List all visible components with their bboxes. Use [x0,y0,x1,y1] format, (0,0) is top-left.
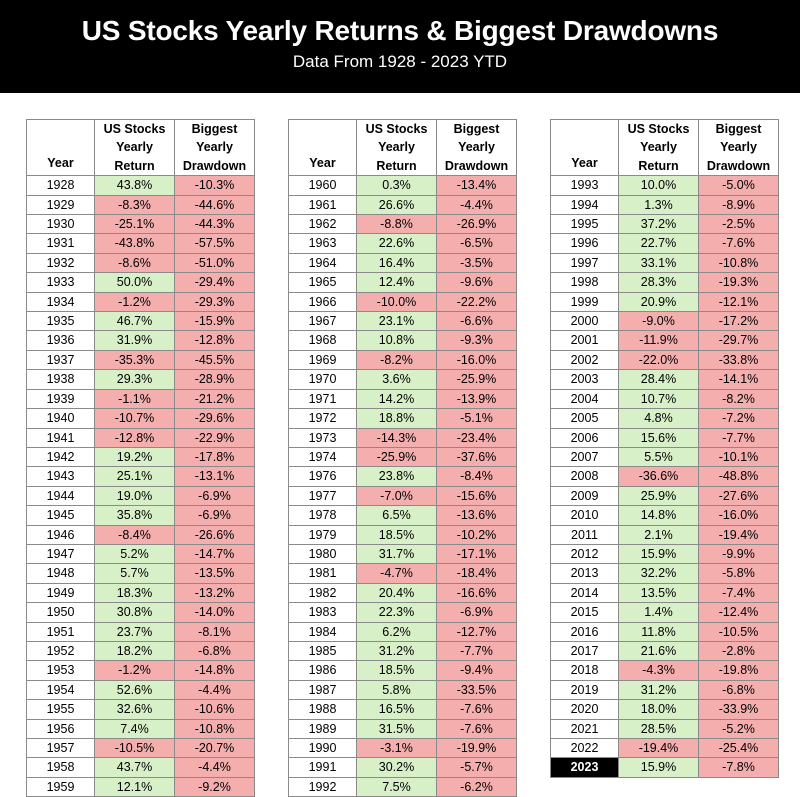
yearly-return-cell: -1.1% [95,389,175,408]
table-row: 199310.0%-5.0% [551,176,779,195]
year-cell: 2013 [551,564,619,583]
biggest-drawdown-cell: -2.5% [699,215,779,234]
table-row: 193546.7%-15.9% [27,312,255,331]
yearly-return-cell: 32.6% [95,700,175,719]
column-header-year: Year [551,120,619,176]
year-cell: 1931 [27,234,95,253]
biggest-drawdown-cell: -12.4% [699,603,779,622]
table-row: 198220.4%-16.6% [289,583,517,602]
yearly-return-cell: -7.0% [357,486,437,505]
table-row: 1977-7.0%-15.6% [289,486,517,505]
yearly-return-cell: 43.8% [95,176,175,195]
table-row: 1937-35.3%-45.5% [27,350,255,369]
biggest-drawdown-cell: -33.9% [699,700,779,719]
yearly-return-cell: 23.1% [357,312,437,331]
biggest-drawdown-cell: -6.2% [437,777,517,796]
yearly-return-cell: 13.5% [619,583,699,602]
yearly-return-cell: 15.6% [619,428,699,447]
yearly-return-cell: 22.3% [357,603,437,622]
biggest-drawdown-cell: -6.6% [437,312,517,331]
page-subtitle: Data From 1928 - 2023 YTD [0,51,800,73]
yearly-return-cell: 29.3% [95,370,175,389]
year-cell: 1970 [289,370,357,389]
column-header-year: Year [289,120,357,176]
returns-table: YearUS StocksYearlyReturnBiggestYearlyDr… [288,119,517,797]
year-cell: 2004 [551,389,619,408]
biggest-drawdown-cell: -10.8% [699,253,779,272]
biggest-drawdown-cell: -15.9% [175,312,255,331]
yearly-return-cell: 7.4% [95,719,175,738]
biggest-drawdown-cell: -6.8% [699,680,779,699]
biggest-drawdown-cell: -18.4% [437,564,517,583]
table-row: 20151.4%-12.4% [551,603,779,622]
table-row: 1929-8.3%-44.6% [27,195,255,214]
yearly-return-cell: -36.6% [619,467,699,486]
yearly-return-cell: 18.0% [619,700,699,719]
table-panel: YearUS StocksYearlyReturnBiggestYearlyDr… [550,119,778,797]
table-row: 1981-4.7%-18.4% [289,564,517,583]
year-cell: 1996 [551,234,619,253]
table-row: 192843.8%-10.3% [27,176,255,195]
yearly-return-cell: 18.5% [357,661,437,680]
biggest-drawdown-cell: -7.2% [699,409,779,428]
biggest-drawdown-cell: -44.6% [175,195,255,214]
table-row: 2002-22.0%-33.8% [551,350,779,369]
biggest-drawdown-cell: -57.5% [175,234,255,253]
yearly-return-cell: 25.1% [95,467,175,486]
year-cell: 1995 [551,215,619,234]
year-cell: 1967 [289,312,357,331]
year-cell: 1953 [27,661,95,680]
yearly-return-cell: 25.9% [619,486,699,505]
year-cell: 1966 [289,292,357,311]
year-cell: 1951 [27,622,95,641]
biggest-drawdown-cell: -3.5% [437,253,517,272]
year-cell: 1957 [27,739,95,758]
table-row: 1941-12.8%-22.9% [27,428,255,447]
year-cell: 2002 [551,350,619,369]
year-cell: 1947 [27,544,95,563]
biggest-drawdown-cell: -9.3% [437,331,517,350]
year-cell: 1983 [289,603,357,622]
yearly-return-cell: -11.9% [619,331,699,350]
title-banner: US Stocks Yearly Returns & Biggest Drawd… [0,0,800,93]
yearly-return-cell: -4.7% [357,564,437,583]
year-cell: 2003 [551,370,619,389]
returns-table: YearUS StocksYearlyReturnBiggestYearlyDr… [550,119,779,778]
year-cell: 1962 [289,215,357,234]
year-cell: 1985 [289,641,357,660]
table-row: 198931.5%-7.6% [289,719,517,738]
column-header-biggest-drawdown: BiggestYearlyDrawdown [175,120,255,176]
biggest-drawdown-cell: -6.9% [437,603,517,622]
yearly-return-cell: 28.5% [619,719,699,738]
table-row: 20054.8%-7.2% [551,409,779,428]
biggest-drawdown-cell: -7.6% [437,719,517,738]
year-cell: 1932 [27,253,95,272]
table-row: 194535.8%-6.9% [27,506,255,525]
biggest-drawdown-cell: -7.4% [699,583,779,602]
year-cell: 2010 [551,506,619,525]
table-row: 201215.9%-9.9% [551,544,779,563]
table-row: 200925.9%-27.6% [551,486,779,505]
yearly-return-cell: 10.7% [619,389,699,408]
yearly-return-cell: 28.4% [619,370,699,389]
year-cell: 1982 [289,583,357,602]
table-row: 2001-11.9%-29.7% [551,331,779,350]
table-row: 2000-9.0%-17.2% [551,312,779,331]
year-cell: 1961 [289,195,357,214]
yearly-return-cell: -1.2% [95,292,175,311]
year-cell: 1973 [289,428,357,447]
biggest-drawdown-cell: -33.8% [699,350,779,369]
year-cell: 1980 [289,544,357,563]
biggest-drawdown-cell: -15.6% [437,486,517,505]
yearly-return-cell: 18.3% [95,583,175,602]
biggest-drawdown-cell: -10.5% [699,622,779,641]
yearly-return-cell: 21.6% [619,641,699,660]
biggest-drawdown-cell: -8.2% [699,389,779,408]
yearly-return-cell: 31.2% [357,641,437,660]
year-cell: 1976 [289,467,357,486]
biggest-drawdown-cell: -8.4% [437,467,517,486]
year-cell: 1994 [551,195,619,214]
table-row: 197623.8%-8.4% [289,467,517,486]
yearly-return-cell: 19.2% [95,447,175,466]
year-cell: 1981 [289,564,357,583]
year-cell: 1977 [289,486,357,505]
year-cell: 1933 [27,273,95,292]
yearly-return-cell: 16.4% [357,253,437,272]
biggest-drawdown-cell: -17.1% [437,544,517,563]
year-cell: 2001 [551,331,619,350]
table-row: 193631.9%-12.8% [27,331,255,350]
year-cell: 1988 [289,700,357,719]
table-row: 1931-43.8%-57.5% [27,234,255,253]
yearly-return-cell: 28.3% [619,273,699,292]
biggest-drawdown-cell: -48.8% [699,467,779,486]
table-row: 201413.5%-7.4% [551,583,779,602]
biggest-drawdown-cell: -29.6% [175,409,255,428]
yearly-return-cell: 35.8% [95,506,175,525]
table-row: 200410.7%-8.2% [551,389,779,408]
table-row: 195912.1%-9.2% [27,777,255,796]
yearly-return-cell: 5.5% [619,447,699,466]
table-row: 20112.1%-19.4% [551,525,779,544]
table-row: 1966-10.0%-22.2% [289,292,517,311]
year-cell: 1963 [289,234,357,253]
yearly-return-cell: 11.8% [619,622,699,641]
year-cell: 1935 [27,312,95,331]
yearly-return-cell: -1.2% [95,661,175,680]
table-panel: YearUS StocksYearlyReturnBiggestYearlyDr… [26,119,254,797]
yearly-return-cell: 5.7% [95,564,175,583]
year-cell: 1964 [289,253,357,272]
year-cell: 1945 [27,506,95,525]
biggest-drawdown-cell: -5.8% [699,564,779,583]
column-header-yearly-return: US StocksYearlyReturn [619,120,699,176]
table-row: 1962-8.8%-26.9% [289,215,517,234]
biggest-drawdown-cell: -14.8% [175,661,255,680]
year-cell: 1965 [289,273,357,292]
yearly-return-cell: -10.0% [357,292,437,311]
year-cell: 1955 [27,700,95,719]
biggest-drawdown-cell: -13.4% [437,176,517,195]
year-cell: 1992 [289,777,357,796]
year-cell: 1940 [27,409,95,428]
yearly-return-cell: -35.3% [95,350,175,369]
table-row: 195452.6%-4.4% [27,680,255,699]
year-cell: 1944 [27,486,95,505]
table-row: 19875.8%-33.5% [289,680,517,699]
biggest-drawdown-cell: -8.9% [699,195,779,214]
column-header-yearly-return: US StocksYearlyReturn [95,120,175,176]
table-row: 196416.4%-3.5% [289,253,517,272]
biggest-drawdown-cell: -25.9% [437,370,517,389]
biggest-drawdown-cell: -2.8% [699,641,779,660]
table-row: 198816.5%-7.6% [289,700,517,719]
table-row: 19927.5%-6.2% [289,777,517,796]
biggest-drawdown-cell: -10.2% [437,525,517,544]
biggest-drawdown-cell: -22.9% [175,428,255,447]
year-cell: 1979 [289,525,357,544]
table-row: 198618.5%-9.4% [289,661,517,680]
biggest-drawdown-cell: -27.6% [699,486,779,505]
year-cell: 2012 [551,544,619,563]
table-row: 202128.5%-5.2% [551,719,779,738]
yearly-return-cell: 18.2% [95,641,175,660]
biggest-drawdown-cell: -9.6% [437,273,517,292]
yearly-return-cell: 10.0% [619,176,699,195]
biggest-drawdown-cell: -19.3% [699,273,779,292]
table-row: 199733.1%-10.8% [551,253,779,272]
yearly-return-cell: -8.6% [95,253,175,272]
yearly-return-cell: 20.9% [619,292,699,311]
table-row: 19703.6%-25.9% [289,370,517,389]
table-row: 196810.8%-9.3% [289,331,517,350]
yearly-return-cell: -22.0% [619,350,699,369]
biggest-drawdown-cell: -16.6% [437,583,517,602]
table-row: 201611.8%-10.5% [551,622,779,641]
year-cell: 1938 [27,370,95,389]
table-row: 199828.3%-19.3% [551,273,779,292]
column-header-year: Year [27,120,95,176]
yearly-return-cell: 50.0% [95,273,175,292]
year-cell: 1968 [289,331,357,350]
biggest-drawdown-cell: -5.1% [437,409,517,428]
yearly-return-cell: 12.1% [95,777,175,796]
table-header-row: YearUS StocksYearlyReturnBiggestYearlyDr… [27,120,255,176]
biggest-drawdown-cell: -17.8% [175,447,255,466]
table-row: 194918.3%-13.2% [27,583,255,602]
table-row: 1957-10.5%-20.7% [27,739,255,758]
biggest-drawdown-cell: -23.4% [437,428,517,447]
year-cell: 2005 [551,409,619,428]
biggest-drawdown-cell: -25.4% [699,739,779,758]
table-row: 202018.0%-33.9% [551,700,779,719]
biggest-drawdown-cell: -7.7% [699,428,779,447]
year-cell: 1941 [27,428,95,447]
table-row: 196723.1%-6.6% [289,312,517,331]
table-row: 1974-25.9%-37.6% [289,447,517,466]
year-cell: 1930 [27,215,95,234]
biggest-drawdown-cell: -19.8% [699,661,779,680]
year-cell: 1952 [27,641,95,660]
year-cell: 2011 [551,525,619,544]
table-row: 1953-1.2%-14.8% [27,661,255,680]
table-header-row: YearUS StocksYearlyReturnBiggestYearlyDr… [289,120,517,176]
year-cell: 1948 [27,564,95,583]
yearly-return-cell: 1.3% [619,195,699,214]
table-row: 199920.9%-12.1% [551,292,779,311]
biggest-drawdown-cell: -14.0% [175,603,255,622]
column-header-yearly-return: US StocksYearlyReturn [357,120,437,176]
table-row: 1934-1.2%-29.3% [27,292,255,311]
year-cell: 2020 [551,700,619,719]
table-row: 19485.7%-13.5% [27,564,255,583]
yearly-return-cell: 12.4% [357,273,437,292]
year-cell: 1934 [27,292,95,311]
yearly-return-cell: 16.5% [357,700,437,719]
yearly-return-cell: 32.2% [619,564,699,583]
table-row: 19846.2%-12.7% [289,622,517,641]
biggest-drawdown-cell: -7.6% [437,700,517,719]
biggest-drawdown-cell: -6.8% [175,641,255,660]
biggest-drawdown-cell: -5.0% [699,176,779,195]
yearly-return-cell: 0.3% [357,176,437,195]
year-cell: 1936 [27,331,95,350]
yearly-return-cell: 15.9% [619,544,699,563]
table-row: 19786.5%-13.6% [289,506,517,525]
biggest-drawdown-cell: -16.0% [699,506,779,525]
table-row: 19475.2%-14.7% [27,544,255,563]
yearly-return-cell: 5.2% [95,544,175,563]
table-row: 197114.2%-13.9% [289,389,517,408]
biggest-drawdown-cell: -4.4% [437,195,517,214]
yearly-return-cell: -10.7% [95,409,175,428]
biggest-drawdown-cell: -8.1% [175,622,255,641]
table-row: 199622.7%-7.6% [551,234,779,253]
year-cell: 1998 [551,273,619,292]
year-cell: 2021 [551,719,619,738]
yearly-return-cell: -8.3% [95,195,175,214]
year-cell: 2019 [551,680,619,699]
biggest-drawdown-cell: -29.4% [175,273,255,292]
column-header-biggest-drawdown: BiggestYearlyDrawdown [699,120,779,176]
returns-table: YearUS StocksYearlyReturnBiggestYearlyDr… [26,119,255,797]
year-cell: 2009 [551,486,619,505]
biggest-drawdown-cell: -6.9% [175,506,255,525]
yearly-return-cell: 46.7% [95,312,175,331]
year-cell: 2014 [551,583,619,602]
year-cell: 1971 [289,389,357,408]
yearly-return-cell: 19.0% [95,486,175,505]
yearly-return-cell: 26.6% [357,195,437,214]
table-row: 195123.7%-8.1% [27,622,255,641]
year-cell: 1993 [551,176,619,195]
biggest-drawdown-cell: -6.9% [175,486,255,505]
biggest-drawdown-cell: -9.9% [699,544,779,563]
year-cell: 2000 [551,312,619,331]
year-cell: 1929 [27,195,95,214]
year-cell: 1942 [27,447,95,466]
yearly-return-cell: 23.8% [357,467,437,486]
year-cell: 2018 [551,661,619,680]
yearly-return-cell: 52.6% [95,680,175,699]
table-row: 1990-3.1%-19.9% [289,739,517,758]
table-row: 19941.3%-8.9% [551,195,779,214]
table-row: 193829.3%-28.9% [27,370,255,389]
biggest-drawdown-cell: -10.6% [175,700,255,719]
biggest-drawdown-cell: -13.1% [175,467,255,486]
biggest-drawdown-cell: -13.5% [175,564,255,583]
biggest-drawdown-cell: -12.8% [175,331,255,350]
year-cell: 1946 [27,525,95,544]
biggest-drawdown-cell: -33.5% [437,680,517,699]
yearly-return-cell: 18.8% [357,409,437,428]
table-row: 197218.8%-5.1% [289,409,517,428]
biggest-drawdown-cell: -10.8% [175,719,255,738]
biggest-drawdown-cell: -9.2% [175,777,255,796]
table-row: 1973-14.3%-23.4% [289,428,517,447]
year-cell: 1928 [27,176,95,195]
table-row: 198322.3%-6.9% [289,603,517,622]
table-row: 1930-25.1%-44.3% [27,215,255,234]
table-row: 195532.6%-10.6% [27,700,255,719]
yearly-return-cell: 4.8% [619,409,699,428]
yearly-return-cell: 33.1% [619,253,699,272]
biggest-drawdown-cell: -29.7% [699,331,779,350]
biggest-drawdown-cell: -19.9% [437,739,517,758]
yearly-return-cell: 5.8% [357,680,437,699]
biggest-drawdown-cell: -28.9% [175,370,255,389]
biggest-drawdown-cell: -21.2% [175,389,255,408]
table-row: 1932-8.6%-51.0% [27,253,255,272]
year-cell: 1974 [289,447,357,466]
biggest-drawdown-cell: -20.7% [175,739,255,758]
table-row: 201931.2%-6.8% [551,680,779,699]
yearly-return-cell: 10.8% [357,331,437,350]
table-row: 196126.6%-4.4% [289,195,517,214]
table-row: 19567.4%-10.8% [27,719,255,738]
year-cell: 1969 [289,350,357,369]
biggest-drawdown-cell: -45.5% [175,350,255,369]
year-cell: 2015 [551,603,619,622]
yearly-return-cell: -25.9% [357,447,437,466]
yearly-return-cell: 31.7% [357,544,437,563]
table-row: 194219.2%-17.8% [27,447,255,466]
table-row: 1946-8.4%-26.6% [27,525,255,544]
biggest-drawdown-cell: -51.0% [175,253,255,272]
biggest-drawdown-cell: -16.0% [437,350,517,369]
biggest-drawdown-cell: -7.7% [437,641,517,660]
year-cell: 1987 [289,680,357,699]
yearly-return-cell: 22.7% [619,234,699,253]
year-cell: 2007 [551,447,619,466]
year-cell: 1984 [289,622,357,641]
yearly-return-cell: -8.2% [357,350,437,369]
yearly-return-cell: 31.9% [95,331,175,350]
table-row: 201721.6%-2.8% [551,641,779,660]
year-cell: 2006 [551,428,619,447]
year-cell: 1999 [551,292,619,311]
biggest-drawdown-cell: -26.6% [175,525,255,544]
table-row: 2018-4.3%-19.8% [551,661,779,680]
biggest-drawdown-cell: -4.4% [175,680,255,699]
yearly-return-cell: 18.5% [357,525,437,544]
biggest-drawdown-cell: -37.6% [437,447,517,466]
table-row: 2022-19.4%-25.4% [551,739,779,758]
